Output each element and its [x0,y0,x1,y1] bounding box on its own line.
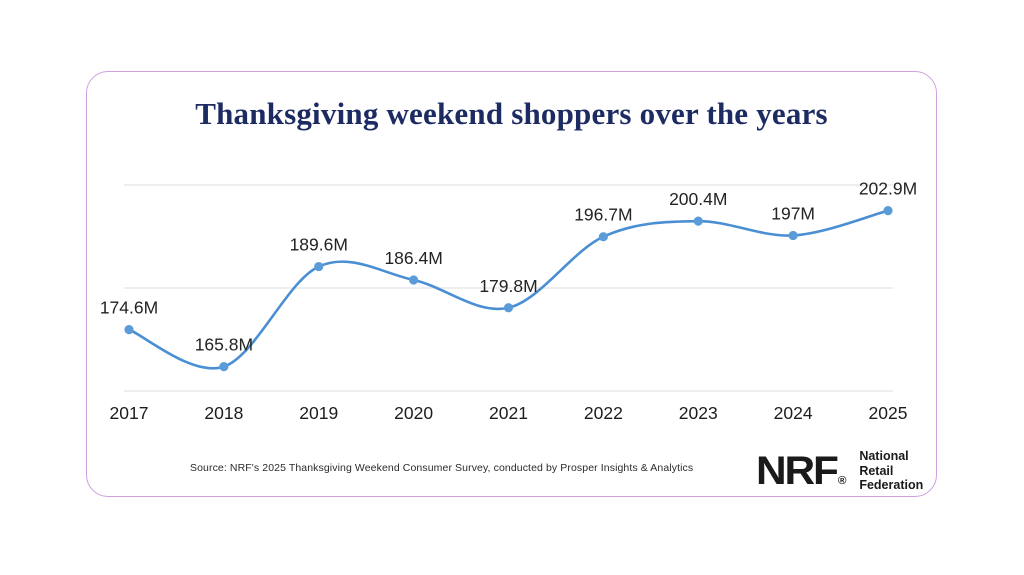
nrf-letters: NRF [756,453,837,490]
registered-trademark-icon: ® [838,476,847,487]
data-point-2022[interactable] [599,232,608,241]
data-point-2025[interactable] [883,206,892,215]
nrf-name-line-2: Retail [859,464,923,479]
x-tick-2024: 2024 [774,403,813,423]
data-point-2019[interactable] [314,262,323,271]
x-tick-2022: 2022 [584,403,623,423]
nrf-logo: NRF ® National Retail Federation [756,449,923,493]
x-tick-2023: 2023 [679,403,718,423]
data-point-2021[interactable] [504,303,513,312]
value-label-2021: 179.8M [479,276,537,296]
nrf-full-name: National Retail Federation [859,449,923,493]
data-point-2018[interactable] [219,362,228,371]
nrf-name-line-3: Federation [859,478,923,493]
x-tick-2018: 2018 [204,403,243,423]
data-point-2023[interactable] [694,217,703,226]
value-label-2025: 202.9M [859,179,917,199]
chart-svg: 174.6M165.8M189.6M186.4M179.8M196.7M200.… [87,72,938,498]
value-label-2023: 200.4M [669,189,727,209]
data-point-2017[interactable] [124,325,133,334]
x-tick-2017: 2017 [110,403,149,423]
x-tick-2019: 2019 [299,403,338,423]
value-label-2018: 165.8M [195,335,253,355]
data-point-2024[interactable] [789,231,798,240]
x-tick-2021: 2021 [489,403,528,423]
nrf-name-line-1: National [859,449,923,464]
source-note: Source: NRF's 2025 Thanksgiving Weekend … [190,462,693,474]
point-labels: 174.6M165.8M189.6M186.4M179.8M196.7M200.… [100,179,917,355]
value-label-2024: 197M [771,203,815,223]
x-tick-2020: 2020 [394,403,433,423]
line-chart: 174.6M165.8M189.6M186.4M179.8M196.7M200.… [87,72,938,498]
nrf-wordmark: NRF ® [756,453,846,490]
value-label-2022: 196.7M [574,205,632,225]
chart-card: Thanksgiving weekend shoppers over the y… [86,71,937,497]
page: Thanksgiving weekend shoppers over the y… [0,0,1024,575]
x-axis-labels: 201720182019202020212022202320242025 [110,403,908,423]
value-label-2020: 186.4M [384,248,442,268]
value-label-2017: 174.6M [100,298,158,318]
data-point-2020[interactable] [409,275,418,284]
x-tick-2025: 2025 [869,403,908,423]
value-label-2019: 189.6M [290,235,348,255]
